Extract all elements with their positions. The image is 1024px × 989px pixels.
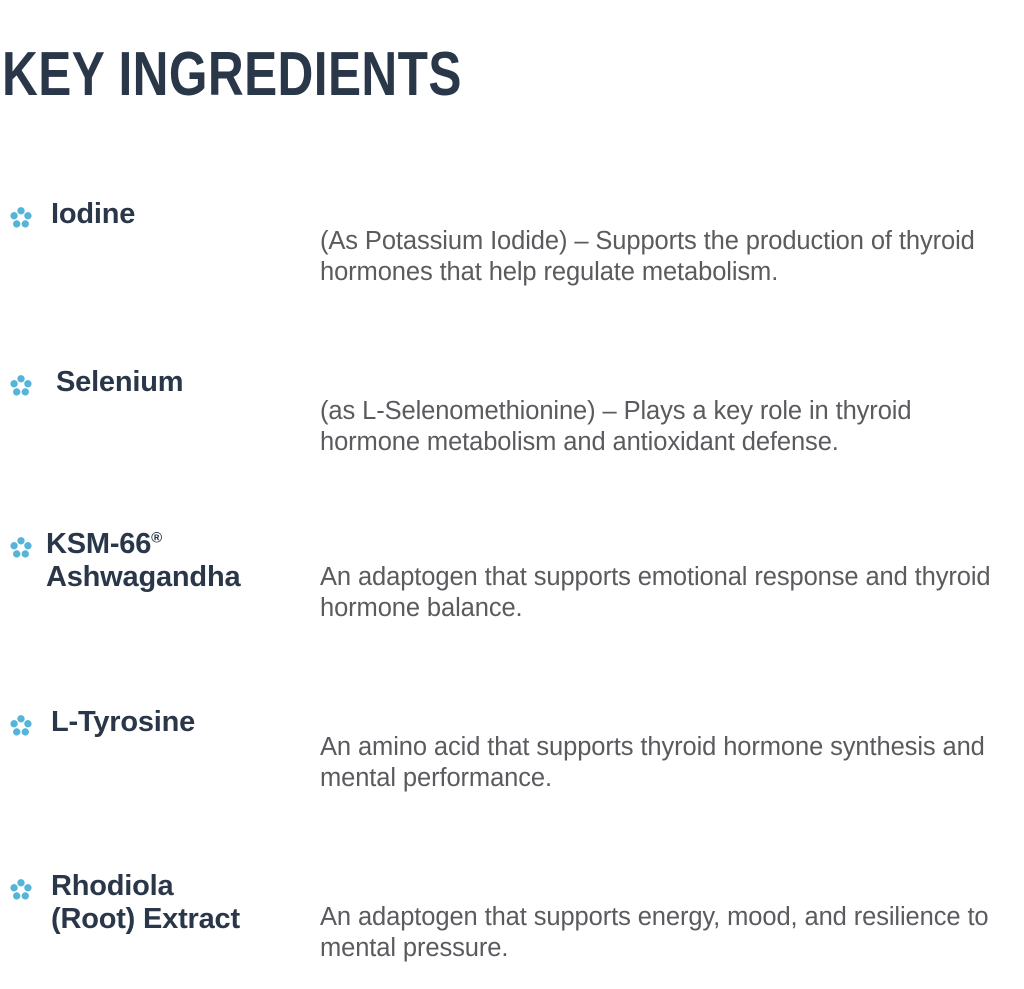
- ingredient-row: Selenium (as L-Selenomethionine) – Plays…: [0, 340, 1024, 510]
- ingredient-name-label: KSM-66®Ashwagandha: [46, 528, 240, 594]
- ingredient-name-line-1: Rhodiola: [51, 870, 173, 902]
- ingredient-name-cell: Rhodiola(Root) Extract: [0, 850, 320, 936]
- ingredient-name-label: Selenium: [56, 366, 183, 399]
- page-title: KEY INGREDIENTS: [2, 40, 462, 110]
- ingredient-name-line-1: KSM-66: [46, 528, 151, 560]
- five-petal-flower-icon: [8, 373, 34, 399]
- ingredient-row: L-Tyrosine An amino acid that supports t…: [0, 680, 1024, 850]
- ingredient-description-cell: An amino acid that supports thyroid horm…: [320, 680, 1024, 819]
- five-petal-flower-icon: [8, 205, 34, 231]
- ingredient-name-line-2: (Root) Extract: [51, 903, 240, 935]
- ingredient-name-cell: L-Tyrosine: [0, 680, 320, 739]
- ingredient-description: An adaptogen that supports energy, mood,…: [320, 902, 1018, 964]
- ingredient-description-cell: (as L-Selenomethionine) – Plays a key ro…: [320, 340, 1024, 483]
- registered-trademark-symbol: ®: [151, 529, 162, 546]
- key-ingredients-page: KEY INGREDIENTS Iodine: [0, 0, 1024, 963]
- ingredient-description: (as L-Selenomethionine) – Plays a key ro…: [320, 396, 1018, 458]
- ingredient-name-label: L-Tyrosine: [51, 706, 195, 739]
- ingredient-description-cell: (As Potassium Iodide) – Supports the pro…: [320, 170, 1024, 313]
- ingredient-description: An adaptogen that supports emotional res…: [320, 562, 1018, 624]
- ingredient-name-label: Rhodiola(Root) Extract: [51, 870, 240, 936]
- ingredient-name-cell: KSM-66®Ashwagandha: [0, 510, 320, 594]
- five-petal-flower-icon: [8, 713, 34, 739]
- ingredient-row: Iodine (As Potassium Iodide) – Supports …: [0, 170, 1024, 340]
- ingredient-row: Rhodiola(Root) Extract An adaptogen that…: [0, 850, 1024, 970]
- ingredient-name-cell: Selenium: [0, 340, 320, 399]
- five-petal-flower-icon: [8, 877, 34, 903]
- ingredient-description-cell: An adaptogen that supports emotional res…: [320, 510, 1024, 649]
- ingredient-name-line-2: Ashwagandha: [46, 561, 240, 593]
- ingredient-list: Iodine (As Potassium Iodide) – Supports …: [0, 170, 1024, 970]
- five-petal-flower-icon: [8, 535, 34, 561]
- ingredient-row: KSM-66®Ashwagandha An adaptogen that sup…: [0, 510, 1024, 680]
- ingredient-description-cell: An adaptogen that supports energy, mood,…: [320, 850, 1024, 989]
- ingredient-description: (As Potassium Iodide) – Supports the pro…: [320, 226, 1018, 288]
- ingredient-description: An amino acid that supports thyroid horm…: [320, 732, 1018, 794]
- ingredient-name-cell: Iodine: [0, 170, 320, 231]
- ingredient-name-label: Iodine: [51, 198, 135, 231]
